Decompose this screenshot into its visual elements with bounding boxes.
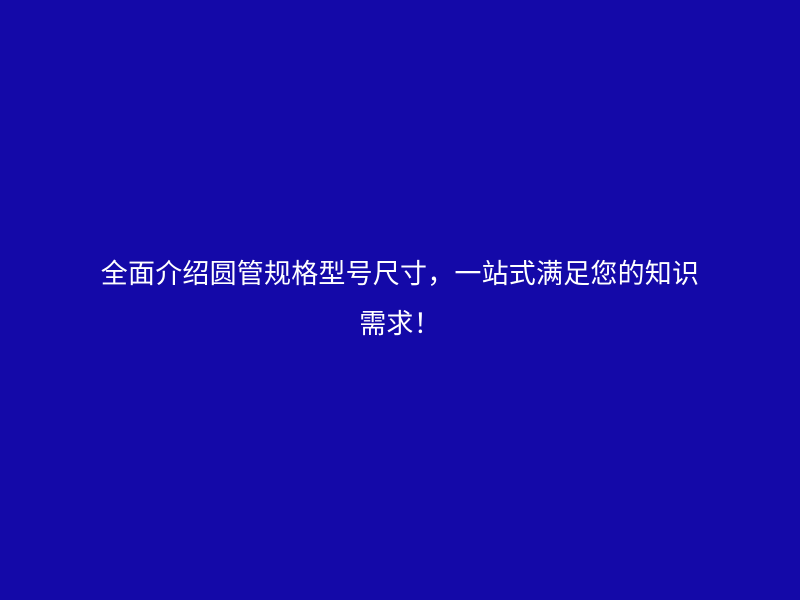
banner-slide: 全面介绍圆管规格型号尺寸，一站式满足您的知识 需求！ — [0, 0, 800, 600]
headline-line-2: 需求！ — [24, 300, 776, 350]
headline-line-1: 全面介绍圆管规格型号尺寸，一站式满足您的知识 — [24, 250, 776, 300]
headline-block: 全面介绍圆管规格型号尺寸，一站式满足您的知识 需求！ — [0, 250, 800, 350]
